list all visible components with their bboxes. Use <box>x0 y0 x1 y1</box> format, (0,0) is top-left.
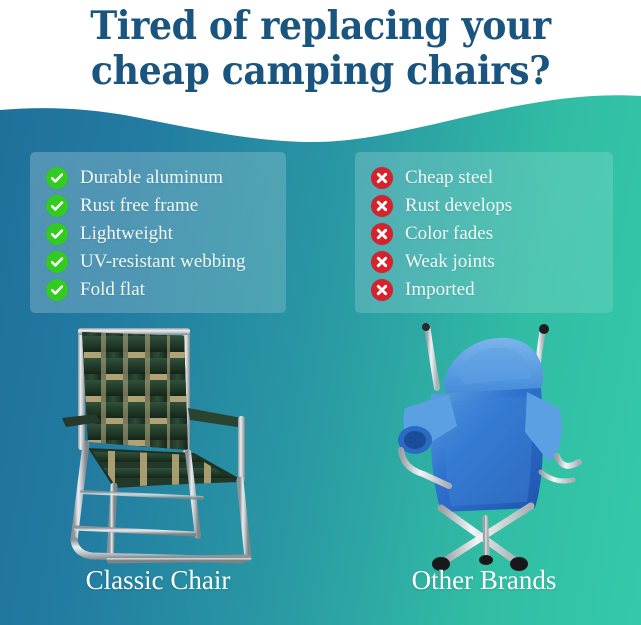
pros-card: Durable aluminum Rust free frame Lightwe… <box>30 152 286 313</box>
check-circle-icon <box>46 279 68 301</box>
list-item: Cheap steel <box>355 164 613 192</box>
blue-fabric-folding-camp-chair-photo <box>345 322 595 572</box>
list-item: Weak joints <box>355 248 613 276</box>
list-item: Lightweight <box>30 220 286 248</box>
list-item-label: Imported <box>405 279 475 301</box>
list-item: Rust develops <box>355 192 613 220</box>
list-item-label: Cheap steel <box>405 167 493 189</box>
cross-circle-icon <box>371 279 393 301</box>
cons-card: Cheap steel Rust develops Color fades We… <box>355 152 613 313</box>
list-item-label: Fold flat <box>80 279 145 301</box>
list-item-label: Rust develops <box>405 195 512 217</box>
check-circle-icon <box>46 167 68 189</box>
comparison-cards: Durable aluminum Rust free frame Lightwe… <box>0 152 641 314</box>
list-item-label: Lightweight <box>80 223 173 245</box>
list-item: Color fades <box>355 220 613 248</box>
cross-circle-icon <box>371 167 393 189</box>
check-circle-icon <box>46 195 68 217</box>
classic-aluminum-webbed-lawn-chair-photo <box>52 322 282 572</box>
list-item-label: UV-resistant webbing <box>80 251 246 273</box>
list-item: Durable aluminum <box>30 164 286 192</box>
list-item: UV-resistant webbing <box>30 248 286 276</box>
headline-line-1: Tired of replacing your <box>22 4 618 49</box>
list-item-label: Durable aluminum <box>80 167 223 189</box>
cross-circle-icon <box>371 223 393 245</box>
product-images <box>0 322 641 572</box>
list-item-label: Color fades <box>405 223 493 245</box>
list-item: Imported <box>355 276 613 304</box>
caption-classic-chair: Classic Chair <box>30 564 286 596</box>
check-circle-icon <box>46 223 68 245</box>
comparison-infographic: Tired of replacing your cheap camping ch… <box>0 0 641 625</box>
list-item-label: Weak joints <box>405 251 495 273</box>
cross-circle-icon <box>371 251 393 273</box>
check-circle-icon <box>46 251 68 273</box>
list-item-label: Rust free frame <box>80 195 198 217</box>
list-item: Rust free frame <box>30 192 286 220</box>
list-item: Fold flat <box>30 276 286 304</box>
cross-circle-icon <box>371 195 393 217</box>
page-title: Tired of replacing your cheap camping ch… <box>0 4 641 94</box>
headline-line-2: cheap camping chairs? <box>22 49 618 94</box>
caption-other-brands: Other Brands <box>355 564 613 596</box>
